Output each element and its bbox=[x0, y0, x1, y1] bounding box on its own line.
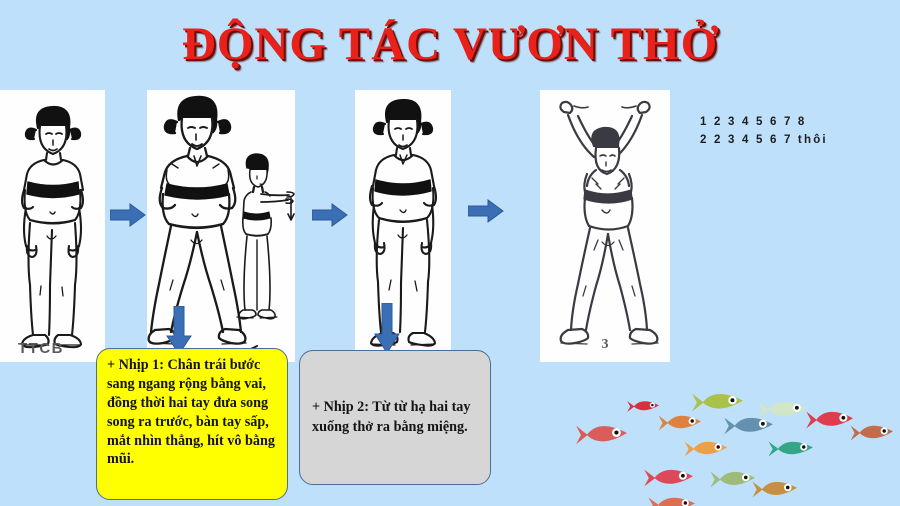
fish-icon bbox=[710, 472, 755, 488]
fish-icon bbox=[758, 402, 807, 419]
fish-icon bbox=[685, 441, 727, 456]
figure-panel-ttcb bbox=[0, 90, 105, 362]
panel-caption-three: 3 bbox=[540, 337, 670, 353]
fish-icon bbox=[752, 482, 797, 498]
beat-counter-line-2: 2 2 3 4 5 6 7 thôi bbox=[700, 132, 828, 150]
arrow-right-icon bbox=[468, 198, 504, 224]
fish-icon bbox=[659, 415, 701, 430]
fish-school-illustration bbox=[565, 380, 900, 506]
arrow-right-icon bbox=[110, 202, 146, 228]
beat-counter-line-1: 1 2 3 4 5 6 7 8 bbox=[700, 114, 828, 132]
girl-standing-arms-lowered-illustration bbox=[355, 90, 451, 362]
fish-icon bbox=[851, 425, 893, 440]
arrow-down-icon bbox=[373, 303, 401, 355]
girl-standing-attention-illustration bbox=[0, 90, 105, 362]
fish-icon bbox=[806, 412, 853, 429]
beat-counter: 1 2 3 4 5 6 7 8 2 2 3 4 5 6 7 thôi bbox=[700, 114, 828, 150]
arrow-right-icon bbox=[312, 202, 348, 228]
figure-panel-arms-overhead bbox=[540, 90, 670, 362]
panel-caption-ttcb: TTCB bbox=[18, 340, 64, 357]
fish-icon bbox=[692, 394, 743, 412]
callout-nhip-1: + Nhịp 1: Chân trái bước sang ngang rộng… bbox=[96, 348, 288, 500]
fish-icon bbox=[724, 418, 773, 435]
fish-icon bbox=[627, 401, 659, 412]
girl-arms-raised-overhead-illustration bbox=[540, 90, 670, 362]
fish-icon bbox=[768, 441, 813, 456]
page-title: ĐỘNG TÁC VƯƠN THỞ bbox=[0, 20, 900, 69]
fish-school-decoration bbox=[565, 380, 900, 506]
figure-panel-nhip2 bbox=[355, 90, 451, 362]
fish-icon bbox=[648, 497, 695, 506]
fish-icon bbox=[644, 470, 693, 487]
fish-icon bbox=[576, 426, 627, 444]
callout-nhip-2: + Nhịp 2: Từ từ hạ hai tay xuống thở ra … bbox=[299, 350, 491, 485]
slide-canvas: ĐỘNG TÁC VƯƠN THỞ bbox=[0, 0, 900, 506]
